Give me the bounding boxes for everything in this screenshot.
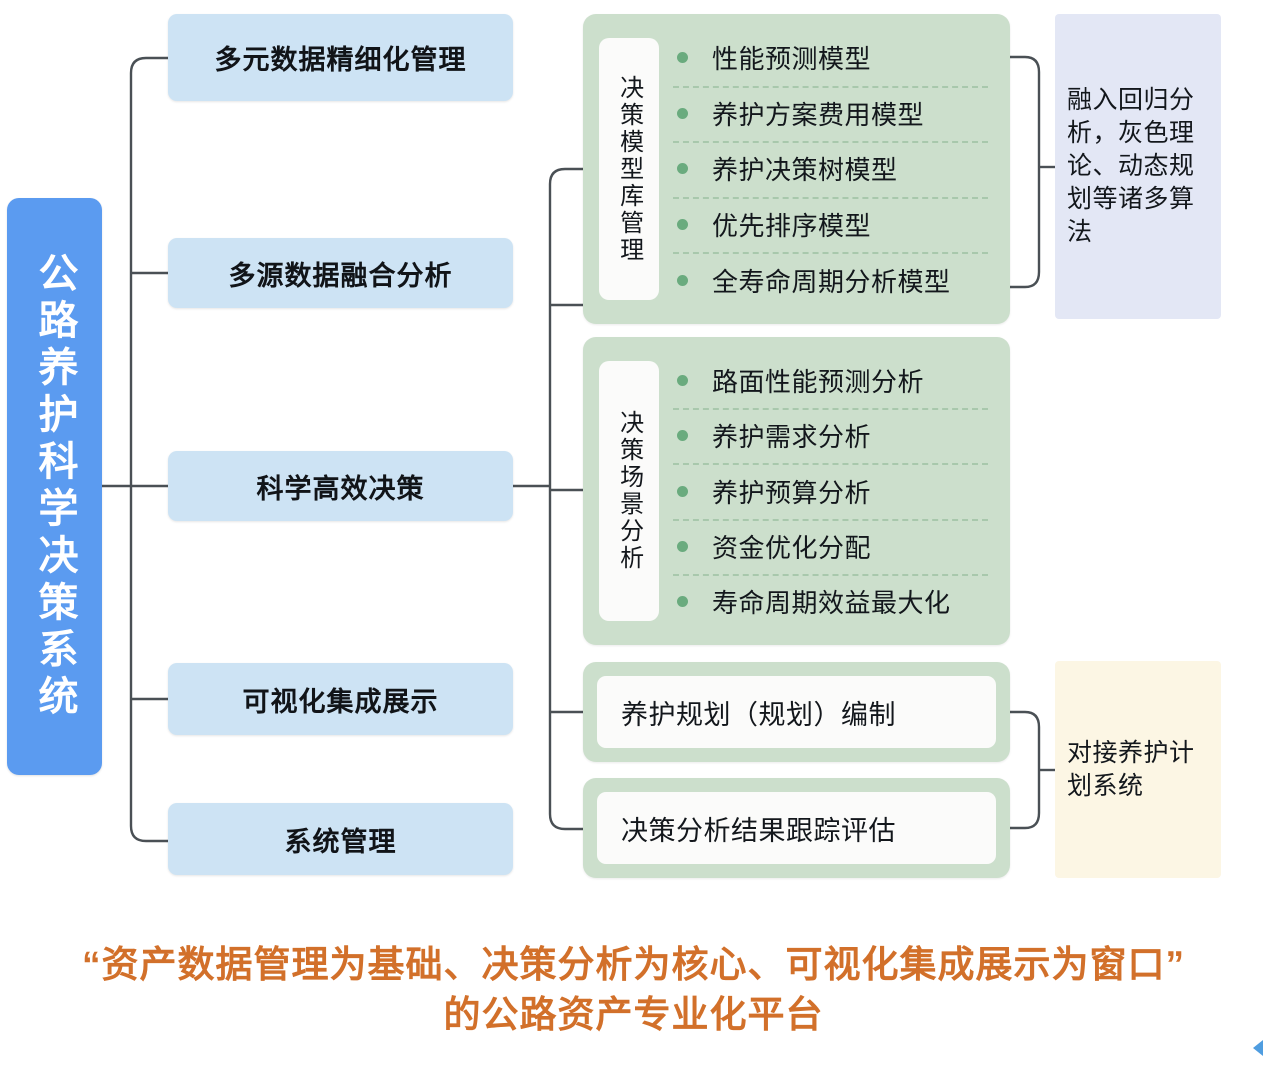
list-item[interactable]: 全寿命周期分析模型 (673, 252, 996, 308)
panel-label: 决策分析结果跟踪评估 (597, 792, 996, 864)
list-item-label: 优先排序模型 (712, 206, 871, 243)
list-item-label: 寿命周期效益最大化 (712, 583, 951, 620)
bullet-icon (677, 219, 688, 230)
panel-decision-model-library: 决策模型库管理 性能预测模型 养护方案费用模型 养护决策树模型 优先排序模型 全… (583, 14, 1010, 324)
node-system-management[interactable]: 系统管理 (168, 803, 513, 875)
panel-title: 决策场景分析 (616, 410, 641, 572)
list-item[interactable]: 寿命周期效益最大化 (673, 574, 996, 629)
list-item[interactable]: 养护方案费用模型 (673, 86, 996, 142)
list-item[interactable]: 性能预测模型 (673, 30, 996, 86)
list-item[interactable]: 养护决策树模型 (673, 141, 996, 197)
root-node-label: 公路养护科学决策系统 (34, 252, 76, 722)
caption-line-2: 的公路资产专业化平台 (0, 990, 1267, 1040)
panel-item-list: 性能预测模型 养护方案费用模型 养护决策树模型 优先排序模型 全寿命周期分析模型 (673, 30, 996, 308)
root-node[interactable]: 公路养护科学决策系统 (7, 198, 102, 775)
bullet-icon (677, 52, 688, 63)
bullet-icon (677, 486, 688, 497)
list-item-label: 养护需求分析 (712, 417, 871, 454)
diagram-canvas: 公路养护科学决策系统 多元数据精细化管理 多源数据融合分析 科学高效决策 可视化… (0, 0, 1267, 1080)
panel-title-card: 决策场景分析 (599, 361, 659, 621)
panel-title-card: 决策模型库管理 (599, 38, 659, 300)
node-label: 系统管理 (285, 820, 397, 859)
bullet-icon (677, 541, 688, 552)
note-algorithms: 融入回归分析，灰色理论、动态规划等诸多算法 (1055, 14, 1221, 319)
node-scientific-decision[interactable]: 科学高效决策 (168, 451, 513, 521)
list-item[interactable]: 资金优化分配 (673, 519, 996, 574)
panel-maintenance-plan-compilation[interactable]: 养护规划（规划）编制 (583, 662, 1010, 762)
node-label: 多源数据融合分析 (229, 254, 453, 293)
list-item[interactable]: 养护需求分析 (673, 408, 996, 463)
list-item-label: 资金优化分配 (712, 528, 871, 565)
list-item[interactable]: 优先排序模型 (673, 197, 996, 253)
bullet-icon (677, 430, 688, 441)
bullet-icon (677, 108, 688, 119)
panel-title: 决策模型库管理 (616, 75, 641, 264)
bullet-icon (677, 275, 688, 286)
panel-label: 养护规划（规划）编制 (597, 676, 996, 748)
list-item-label: 路面性能预测分析 (712, 362, 924, 399)
play-marker-icon (1253, 1040, 1263, 1056)
node-label: 多元数据精细化管理 (215, 38, 467, 77)
list-item[interactable]: 路面性能预测分析 (673, 353, 996, 408)
note-plan-system: 对接养护计划系统 (1055, 661, 1221, 878)
panel-decision-scenario-analysis: 决策场景分析 路面性能预测分析 养护需求分析 养护预算分析 资金优化分配 寿命周… (583, 337, 1010, 645)
caption-line-1: “资产数据管理为基础、决策分析为核心、可视化集成展示为窗口” (82, 944, 1185, 985)
note-text: 对接养护计划系统 (1067, 737, 1209, 803)
node-multi-source-data-fusion[interactable]: 多源数据融合分析 (168, 238, 513, 308)
node-label: 可视化集成展示 (243, 680, 439, 719)
node-label: 科学高效决策 (257, 467, 425, 506)
panel-item-list: 路面性能预测分析 养护需求分析 养护预算分析 资金优化分配 寿命周期效益最大化 (673, 353, 996, 629)
bullet-icon (677, 596, 688, 607)
list-item-label: 养护预算分析 (712, 473, 871, 510)
bullet-icon (677, 163, 688, 174)
bullet-icon (677, 375, 688, 386)
list-item-label: 全寿命周期分析模型 (712, 262, 951, 299)
node-multi-source-data-management[interactable]: 多元数据精细化管理 (168, 14, 513, 101)
list-item-label: 养护决策树模型 (712, 150, 898, 187)
list-item[interactable]: 养护预算分析 (673, 463, 996, 518)
list-item-label: 性能预测模型 (712, 39, 871, 76)
note-text: 融入回归分析，灰色理论、动态规划等诸多算法 (1067, 84, 1209, 249)
list-item-label: 养护方案费用模型 (712, 95, 924, 132)
panel-decision-result-tracking[interactable]: 决策分析结果跟踪评估 (583, 778, 1010, 878)
caption: “资产数据管理为基础、决策分析为核心、可视化集成展示为窗口” 的公路资产专业化平… (0, 940, 1267, 1039)
node-visualization-display[interactable]: 可视化集成展示 (168, 663, 513, 735)
